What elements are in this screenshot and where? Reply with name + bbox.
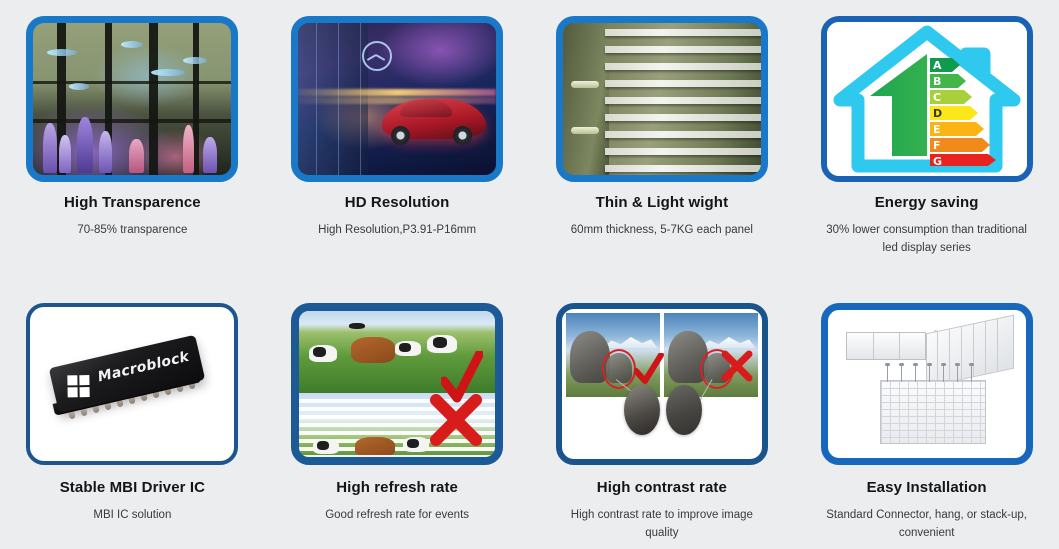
feature-card-stable-mbi-driver-ic[interactable]: Macroblock Stable MBI Driver IC MBI IC s… [0, 283, 265, 549]
feature-subtitle: 60mm thickness, 5-7KG each panel [571, 222, 753, 240]
feature-title: High Transparence [64, 194, 201, 212]
feature-card-hd-resolution[interactable]: HD Resolution High Resolution,P3.91-P16m… [265, 0, 530, 283]
check-icon [634, 353, 664, 387]
feature-image-high-transparence [26, 16, 238, 182]
svg-text:C: C [933, 91, 941, 104]
feature-card-high-transparence[interactable]: High Transparence 70-85% transparence [0, 0, 265, 283]
feature-subtitle: 30% lower consumption than traditional l… [819, 222, 1035, 258]
cross-icon [429, 393, 483, 447]
macroblock-logo-icon [68, 375, 90, 397]
feature-title: Stable MBI Driver IC [60, 479, 205, 497]
svg-text:G: G [933, 155, 942, 168]
svg-text:E: E [933, 123, 941, 136]
feature-subtitle: MBI IC solution [93, 507, 171, 525]
feature-card-energy-saving[interactable]: A B C D E F G Energy saving 30% lower co… [794, 0, 1059, 283]
feature-subtitle: Standard Connector, hang, or stack-up, c… [819, 507, 1035, 543]
showroom-photo [298, 23, 496, 175]
feature-subtitle: Good refresh rate for events [325, 507, 469, 525]
led-strip-photo [563, 23, 761, 175]
feature-image-easy-installation [821, 303, 1033, 465]
energy-house-icon: A B C D E F G [827, 22, 1027, 176]
feature-title: Easy Installation [867, 479, 987, 497]
svg-text:B: B [933, 75, 941, 88]
feature-title: High contrast rate [597, 479, 727, 497]
feature-card-high-contrast-rate[interactable]: High contrast rate High contrast rate to… [530, 283, 795, 549]
refresh-comparison-photo [299, 311, 495, 457]
feature-title: HD Resolution [345, 194, 450, 212]
feature-title: Thin & Light wight [596, 194, 729, 212]
feature-subtitle: High contrast rate to improve image qual… [554, 507, 770, 543]
feature-image-thin-light [556, 16, 768, 182]
cross-icon [720, 349, 754, 383]
svg-text:F: F [933, 139, 941, 152]
feature-subtitle: High Resolution,P3.91-P16mm [318, 222, 476, 240]
chip-brand-label: Macroblock [97, 349, 191, 386]
installation-diagram [828, 310, 1026, 458]
contrast-comparison-photo [562, 309, 762, 459]
feature-title: Energy saving [875, 194, 979, 212]
mercedes-star-icon [362, 41, 392, 71]
feature-image-refresh-rate [291, 303, 503, 465]
feature-grid: High Transparence 70-85% transparence HD… [0, 0, 1059, 549]
feature-subtitle: 70-85% transparence [77, 222, 187, 240]
macroblock-chip-photo: Macroblock [30, 307, 234, 461]
feature-image-hd-resolution [291, 16, 503, 182]
transparent-screen-photo [33, 23, 231, 175]
feature-card-high-refresh-rate[interactable]: High refresh rate Good refresh rate for … [265, 283, 530, 549]
feature-image-mbi-chip: Macroblock [26, 303, 238, 465]
feature-image-contrast-rate [556, 303, 768, 465]
feature-title: High refresh rate [336, 479, 458, 497]
feature-card-thin-light-wight[interactable]: Thin & Light wight 60mm thickness, 5-7KG… [530, 0, 795, 283]
feature-card-easy-installation[interactable]: Easy Installation Standard Connector, ha… [794, 283, 1059, 549]
svg-text:D: D [933, 107, 942, 120]
svg-text:A: A [933, 59, 942, 72]
feature-image-energy-saving: A B C D E F G [821, 16, 1033, 182]
